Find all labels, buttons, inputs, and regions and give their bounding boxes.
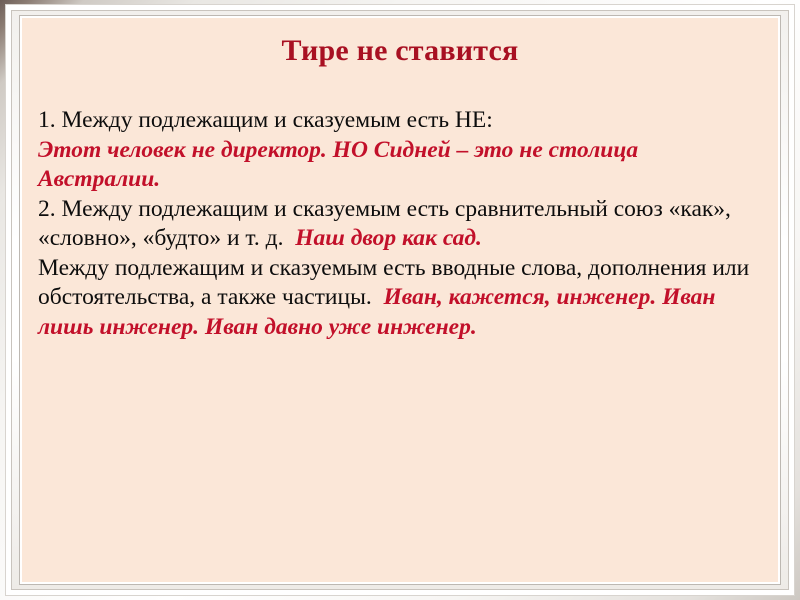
rule-2: 2. Между подлежащим и сказуемым есть сра…: [38, 195, 754, 254]
slide-body: 1. Между подлежащим и сказуемым есть НЕ:…: [38, 106, 754, 342]
rule-2-spacer: [284, 225, 296, 251]
rule-3-spacer: [372, 284, 384, 310]
slide-canvas: Тире не ставится 1. Между подлежащим и с…: [22, 18, 778, 582]
rule-1: 1. Между подлежащим и сказуемым есть НЕ:…: [38, 106, 754, 195]
rule-1-example: Этот человек не директор. НО Сидней – эт…: [38, 137, 638, 193]
rule-3: Между подлежащим и сказуемым есть вводны…: [38, 254, 754, 343]
slide-title-text: Тире не ставится: [282, 34, 519, 67]
slide-title: Тире не ставится: [22, 34, 778, 68]
rule-2-example: Наш двор как сад.: [295, 225, 482, 251]
rule-1-text: 1. Между подлежащим и сказуемым есть НЕ:: [38, 107, 493, 133]
